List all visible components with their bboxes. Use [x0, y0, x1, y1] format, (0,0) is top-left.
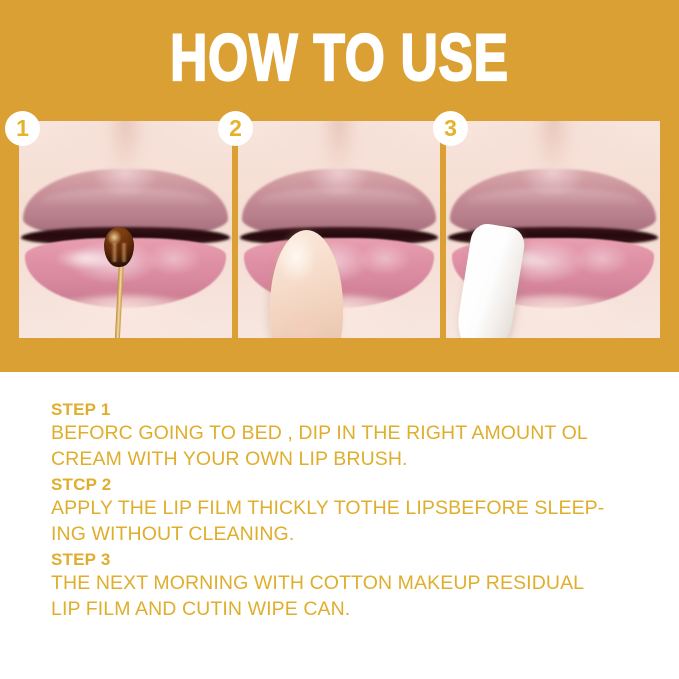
applicator-wand-tip-icon — [104, 227, 134, 267]
lips-photo-2 — [238, 121, 440, 338]
fingernail-icon — [286, 313, 324, 338]
step-photo-2 — [238, 121, 440, 338]
step-3-heading: STEP 3 — [51, 548, 651, 571]
step-badge-2-label: 2 — [229, 117, 242, 140]
step-badge-2: 2 — [218, 111, 253, 146]
step-badge-1-label: 1 — [16, 117, 29, 140]
step-photo-1 — [19, 121, 232, 338]
step-badge-1: 1 — [5, 111, 40, 146]
instruction-step-2: STCP 2 APPLY THE LIP FILM THICKLY TOTHE … — [51, 473, 651, 547]
instruction-step-3: STEP 3 THE NEXT MORNING WITH COTTON MAKE… — [51, 548, 651, 622]
step-2-body: APPLY THE LIP FILM THICKLY TOTHE LIPSBEF… — [51, 496, 651, 547]
step-photo-3 — [446, 121, 660, 338]
instruction-step-1: STEP 1 BEFORC GOING TO BED , DIP IN THE … — [51, 398, 651, 472]
step-2-heading: STCP 2 — [51, 473, 651, 496]
step-3-body: THE NEXT MORNING WITH COTTON MAKEUP RESI… — [51, 571, 651, 622]
how-to-use-infographic: HOW TO USE — [0, 0, 679, 679]
photo-strip — [19, 121, 660, 338]
step-1-heading: STEP 1 — [51, 398, 651, 421]
lips-photo-3 — [446, 121, 660, 338]
chin-highlight — [40, 295, 210, 338]
instructions-list: STEP 1 BEFORC GOING TO BED , DIP IN THE … — [51, 398, 651, 623]
page-title: HOW TO USE — [75, 22, 605, 92]
lips-photo-1 — [19, 121, 232, 338]
step-badge-3-label: 3 — [444, 117, 457, 140]
step-1-body: BEFORC GOING TO BED , DIP IN THE RIGHT A… — [51, 421, 651, 472]
step-badge-3: 3 — [433, 111, 468, 146]
